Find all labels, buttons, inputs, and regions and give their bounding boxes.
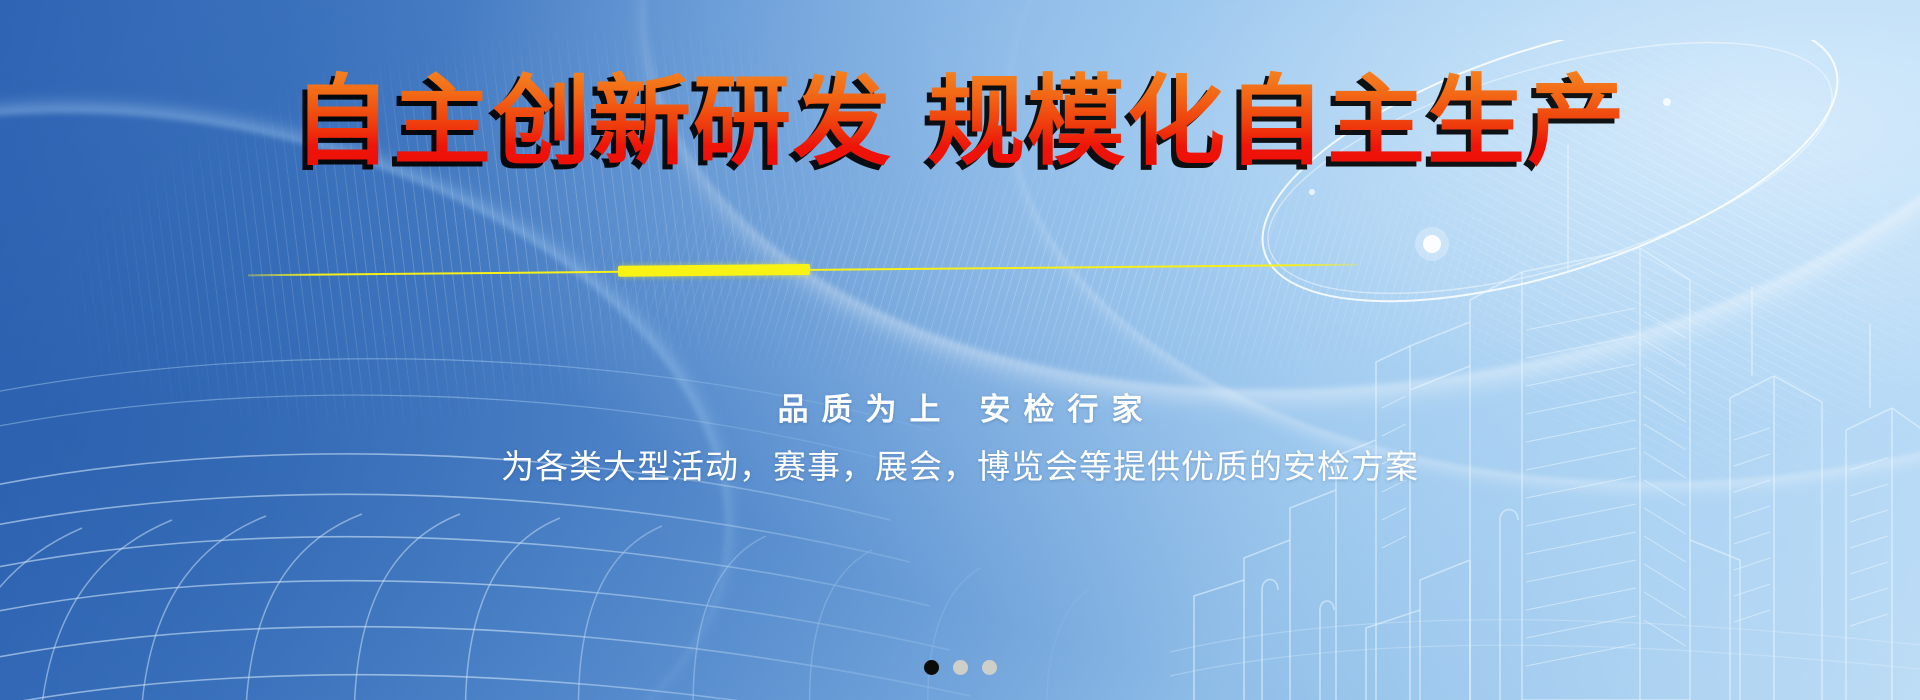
carousel-dot-2[interactable] [953,660,968,675]
subtitle-secondary: 为各类大型活动，赛事，展会，博览会等提供优质的安检方案 [0,440,1920,488]
title-part-1: 自主创新研发 [293,66,893,176]
title-part-2: 规模化自主生产 [927,66,1627,176]
subtitle-primary-right: 安检行家 [980,392,1156,427]
carousel-pagination[interactable] [0,660,1920,675]
carousel-dot-1[interactable] [924,660,939,675]
divider [248,257,1358,284]
subtitle-primary: 品质为上安检行家 [0,384,1920,429]
hero-banner: 自主创新研发规模化自主生产 品质为上安检行家 为各类大型活动，赛事，展会，博览会… [0,0,1920,700]
divider-thick-segment [618,264,810,277]
page-title: 自主创新研发规模化自主生产 [0,70,1920,174]
subtitle-primary-left: 品质为上 [778,392,954,427]
carousel-dot-3[interactable] [982,660,997,675]
curved-wire-mesh-icon [0,290,1190,700]
fan-line-mesh-center-icon [336,0,1873,428]
